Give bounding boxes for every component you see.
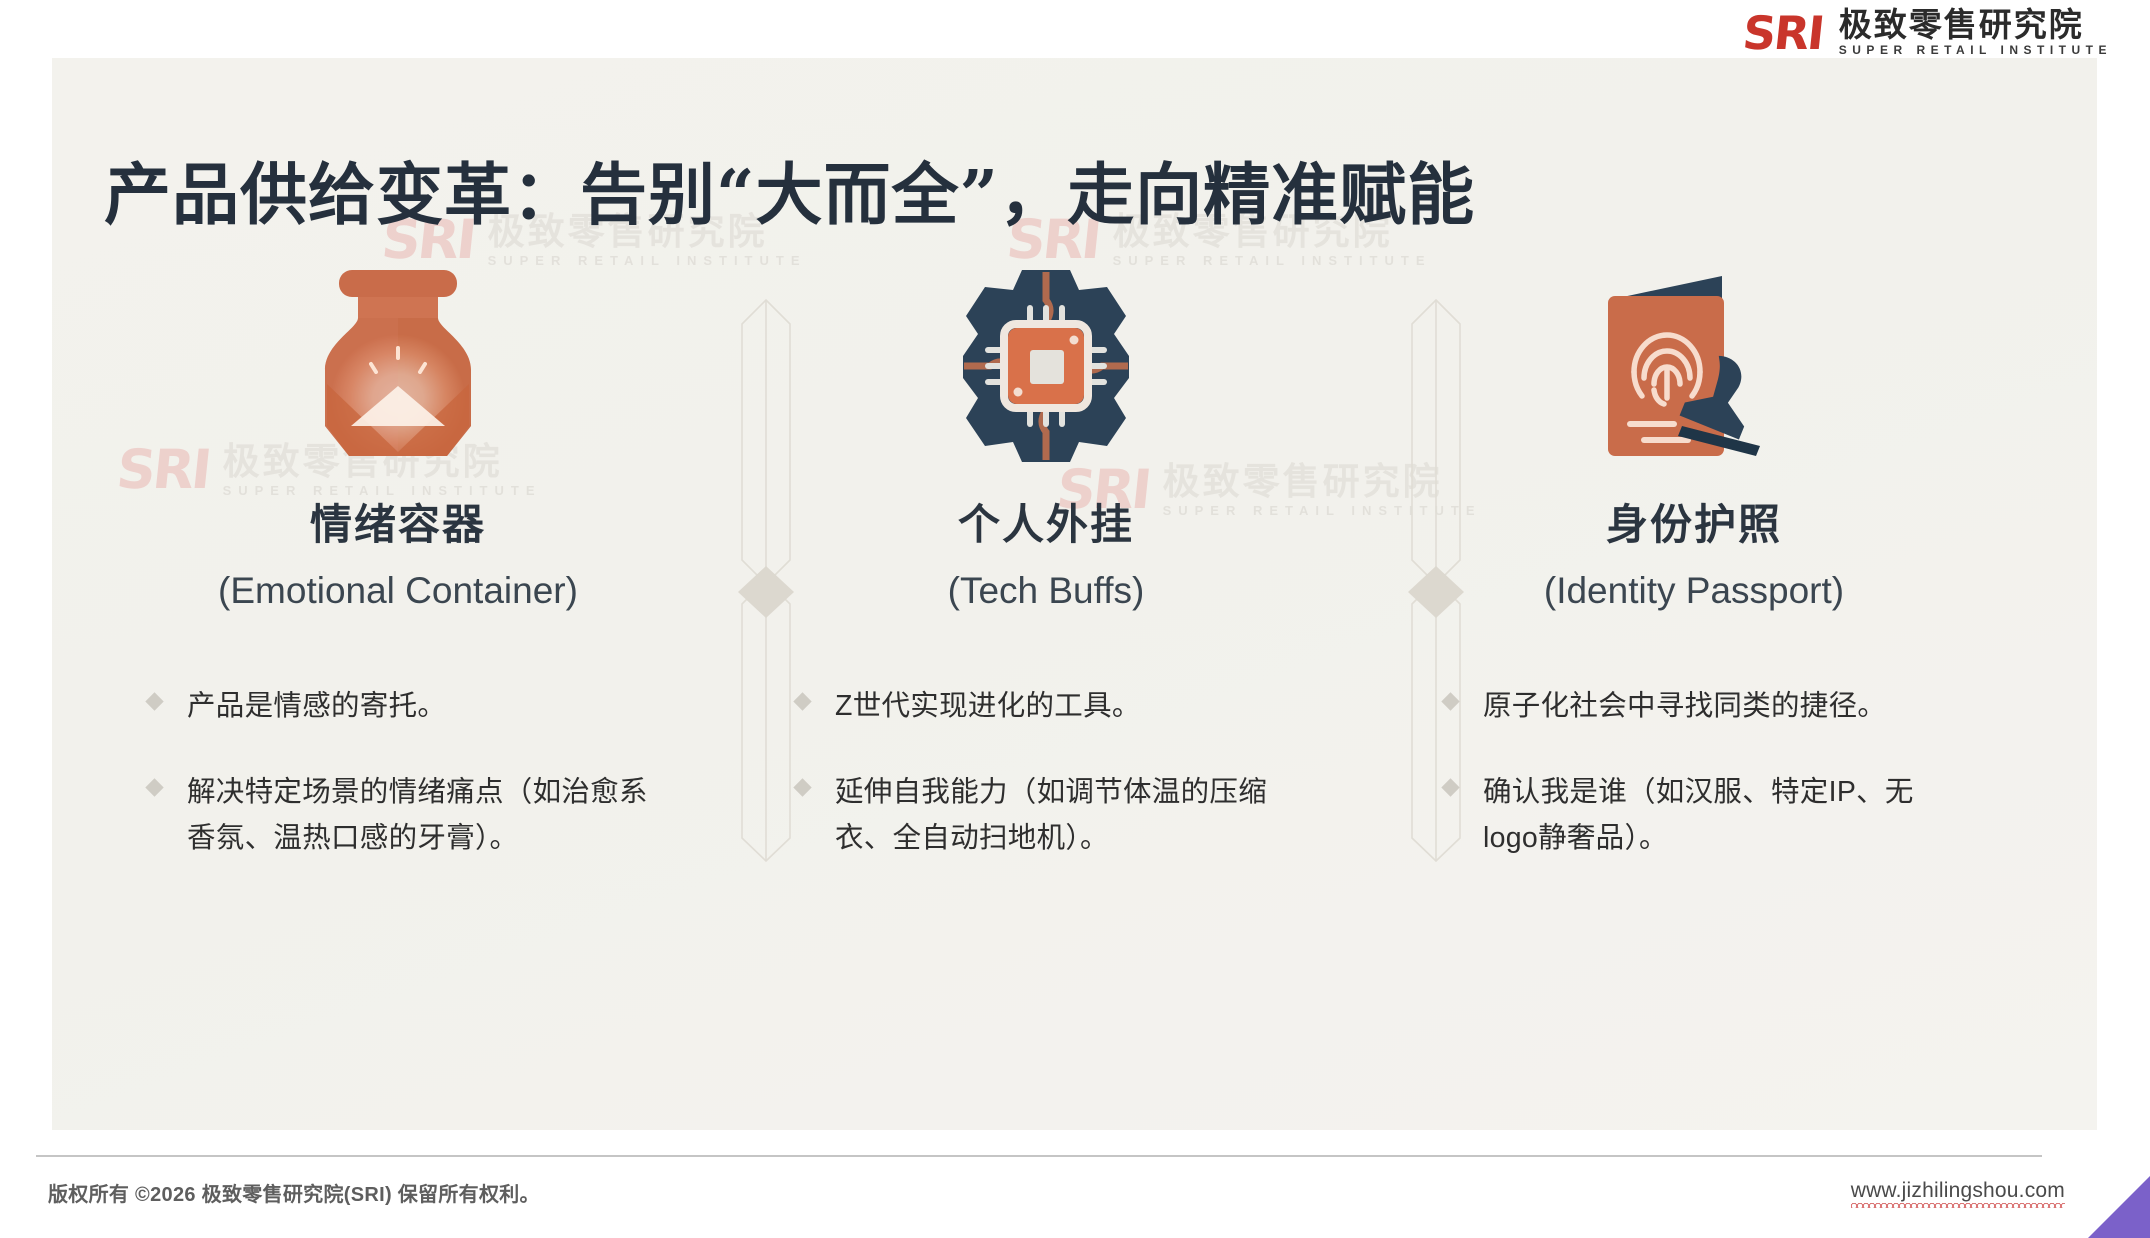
bullet-text: Z世代实现进化的工具。 xyxy=(835,683,1141,729)
diamond-bullet-icon xyxy=(145,692,163,710)
brand-name-cn: 极致零售研究院 xyxy=(1839,8,2112,43)
brand-name-en: SUPER RETAIL INSTITUTE xyxy=(1839,44,2112,56)
list-item: 解决特定场景的情绪痛点（如治愈系香氛、温热口感的牙膏）。 xyxy=(148,769,662,861)
concept-bullet-list: 原子化社会中寻找同类的捷径。 确认我是谁（如汉服、特定IP、无logo静奢品）。 xyxy=(1370,683,2018,861)
diamond-bullet-icon xyxy=(145,778,163,796)
concept-column-identity-passport: 身份护照 (Identity Passport) 原子化社会中寻找同类的捷径。 … xyxy=(1370,263,2018,861)
concept-heading-en: (Emotional Container) xyxy=(218,572,578,609)
concept-column-emotional-container: 情绪容器 (Emotional Container) 产品是情感的寄托。 解决特… xyxy=(74,263,722,861)
diamond-bullet-icon xyxy=(793,692,811,710)
content-card: SRI 极致零售研究院 SUPER RETAIL INSTITUTE SRI 极… xyxy=(52,58,2097,1130)
concept-column-tech-buffs: 个人外挂 (Tech Buffs) Z世代实现进化的工具。 延伸自我能力（如调节… xyxy=(722,263,1370,861)
concept-bullet-list: 产品是情感的寄托。 解决特定场景的情绪痛点（如治愈系香氛、温热口感的牙膏）。 xyxy=(74,683,722,861)
list-item: 原子化社会中寻找同类的捷径。 xyxy=(1444,683,1958,729)
slide-root: SRI 极致零售研究院 SUPER RETAIL INSTITUTE SRI 极… xyxy=(0,0,2150,1238)
list-item: 确认我是谁（如汉服、特定IP、无logo静奢品）。 xyxy=(1444,769,1958,861)
concept-heading-en: (Identity Passport) xyxy=(1544,572,1844,609)
bullet-text: 确认我是谁（如汉服、特定IP、无logo静奢品）。 xyxy=(1483,769,1958,861)
footer-divider xyxy=(36,1155,2042,1157)
slide-title: 产品供给变革：告别“大而全”，走向精准赋能 xyxy=(104,141,1475,238)
diamond-bullet-icon xyxy=(793,778,811,796)
brand-sri-mark: SRI xyxy=(1741,10,1826,56)
footer-copyright: 版权所有 ©2026 极致零售研究院(SRI) 保留所有权利。 xyxy=(48,1178,540,1207)
bullet-text: 延伸自我能力（如调节体温的压缩衣、全自动扫地机）。 xyxy=(835,769,1310,861)
jar-icon xyxy=(303,266,493,466)
bullet-text: 产品是情感的寄托。 xyxy=(187,683,446,729)
corner-accent xyxy=(2088,1176,2150,1238)
jar-icon-wrap xyxy=(303,263,493,468)
list-item: 延伸自我能力（如调节体温的压缩衣、全自动扫地机）。 xyxy=(796,769,1310,861)
diamond-bullet-icon xyxy=(1441,692,1459,710)
list-item: Z世代实现进化的工具。 xyxy=(796,683,1310,729)
diamond-bullet-icon xyxy=(1441,778,1459,796)
chip-gear-icon xyxy=(946,268,1146,464)
concept-columns: 情绪容器 (Emotional Container) 产品是情感的寄托。 解决特… xyxy=(52,263,2097,861)
concept-bullet-list: Z世代实现进化的工具。 延伸自我能力（如调节体温的压缩衣、全自动扫地机）。 xyxy=(722,683,1370,861)
bullet-text: 解决特定场景的情绪痛点（如治愈系香氛、温热口感的牙膏）。 xyxy=(187,769,662,861)
brand-wordmark: 极致零售研究院 SUPER RETAIL INSTITUTE xyxy=(1839,8,2112,58)
passport-stamp-icon-wrap xyxy=(1594,263,1794,468)
concept-heading-en: (Tech Buffs) xyxy=(948,572,1145,609)
bullet-text: 原子化社会中寻找同类的捷径。 xyxy=(1483,683,1886,729)
chip-gear-icon-wrap xyxy=(946,263,1146,468)
concept-heading-cn: 身份护照 xyxy=(1606,504,1782,546)
passport-stamp-icon xyxy=(1594,268,1794,464)
concept-heading-cn: 情绪容器 xyxy=(310,504,486,546)
list-item: 产品是情感的寄托。 xyxy=(148,683,662,729)
brand-logo: SRI 极致零售研究院 SUPER RETAIL INSTITUTE xyxy=(1743,8,2112,58)
footer-website[interactable]: www.jizhilingshou.com xyxy=(1851,1179,2065,1208)
concept-heading-cn: 个人外挂 xyxy=(958,504,1134,546)
